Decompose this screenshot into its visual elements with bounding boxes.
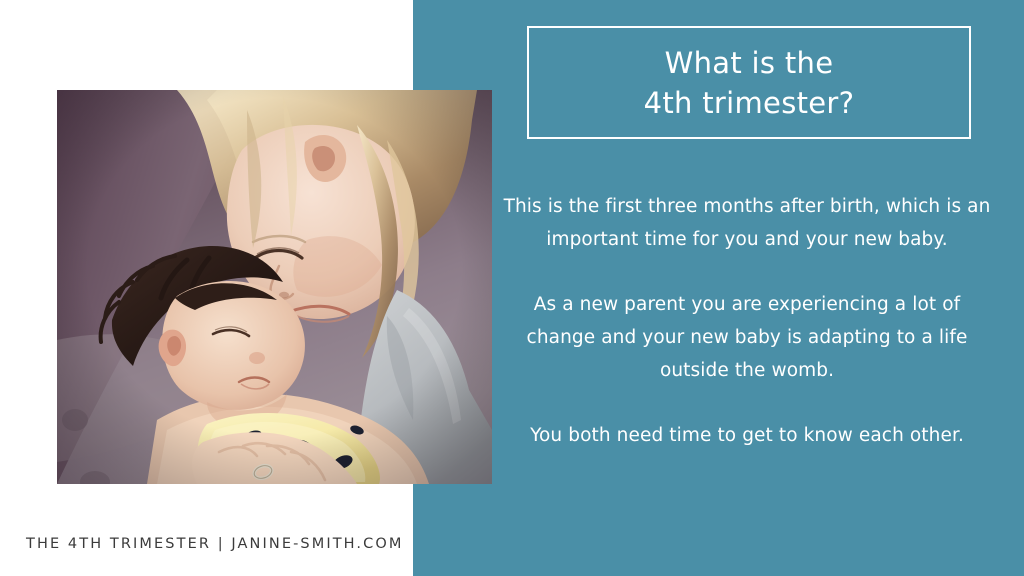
title-line-1: What is the (665, 43, 834, 83)
footer-attribution: THE 4TH TRIMESTER | JANINE-SMITH.COM (26, 536, 403, 552)
body-paragraph-2: As a new parent you are experiencing a l… (500, 288, 994, 387)
body-copy: This is the first three months after bir… (500, 190, 994, 452)
body-paragraph-1: This is the first three months after bir… (500, 190, 994, 256)
mother-and-baby-photo (57, 90, 492, 484)
title-frame: What is the 4th trimester? (527, 26, 971, 139)
slide-canvas: What is the 4th trimester? This is the f… (0, 0, 1024, 576)
body-paragraph-3: You both need time to get to know each o… (500, 419, 994, 452)
title-line-2: 4th trimester? (644, 83, 855, 123)
photo-artwork (57, 90, 492, 484)
